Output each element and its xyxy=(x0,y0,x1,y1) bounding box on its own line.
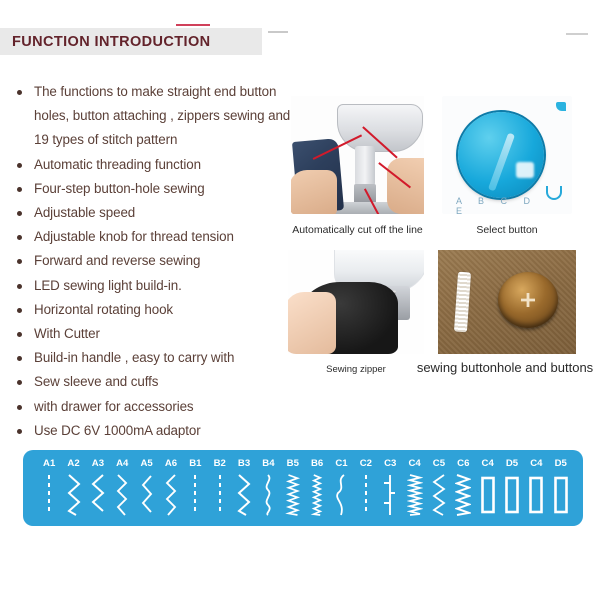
stitch-pattern-cell[interactable]: C4 xyxy=(402,454,426,522)
section-header-bar: FUNCTION INTRODUCTION xyxy=(0,28,262,55)
stitch-pattern-label: C6 xyxy=(457,458,469,469)
sewing-machine-neck xyxy=(355,146,375,186)
stitch-pattern-cell[interactable]: B4 xyxy=(256,454,280,522)
stitch-pattern-cell[interactable]: A6 xyxy=(159,454,183,522)
feature-item: with drawer for accessories xyxy=(10,395,300,419)
caption-buttonhole-and-buttons: sewing buttonhole and buttons xyxy=(410,360,600,375)
stitch-pattern-label: A5 xyxy=(140,458,152,469)
stitch-slanted-zigzag-icon xyxy=(110,471,134,519)
stitch-pattern-cell[interactable]: B2 xyxy=(208,454,232,522)
feature-item: The functions to make straight end butto… xyxy=(10,80,300,153)
stitch-buttonhole-rect-icon xyxy=(500,471,524,519)
feature-item: Four-step button-hole sewing xyxy=(10,177,300,201)
stitch-pattern-label: C3 xyxy=(384,458,396,469)
stitch-pattern-cell[interactable]: C6 xyxy=(451,454,475,522)
stitch-blanket-stitch-icon xyxy=(378,471,402,519)
stitch-pattern-label: D5 xyxy=(555,458,567,469)
top-red-accent xyxy=(176,24,210,26)
sewing-machine-body xyxy=(337,104,423,152)
stitch-buttonhole-rect-icon xyxy=(524,471,548,519)
stitch-pattern-label: B6 xyxy=(311,458,323,469)
stitch-pattern-label: C2 xyxy=(360,458,372,469)
stitch-wide-zigzag-icon xyxy=(61,471,85,519)
stitch-pattern-label: C5 xyxy=(433,458,445,469)
stitch-pattern-label: C4 xyxy=(408,458,420,469)
stitch-pattern-label: A1 xyxy=(43,458,55,469)
selector-knob xyxy=(458,112,544,198)
stitch-pattern-cell[interactable]: D5 xyxy=(549,454,573,522)
stitch-wide-satin-zigzag-icon xyxy=(451,471,475,519)
photo-select-knob: A B C D E xyxy=(442,96,572,214)
stitch-pattern-cell[interactable]: C3 xyxy=(378,454,402,522)
stitch-pattern-cell[interactable]: A4 xyxy=(110,454,134,522)
hand xyxy=(288,292,336,354)
feature-item: Use DC 6V 1000mA adaptor xyxy=(10,419,300,443)
stitch-dashed-straight-icon xyxy=(183,471,207,519)
page-title: FUNCTION INTRODUCTION xyxy=(0,34,211,50)
stitch-pattern-cell[interactable]: A3 xyxy=(86,454,110,522)
stitch-pattern-cell[interactable]: A5 xyxy=(134,454,158,522)
stitch-dense-zigzag-icon xyxy=(402,471,426,519)
stitch-pattern-cell[interactable]: C4 xyxy=(524,454,548,522)
stitch-pattern-cell[interactable]: C4 xyxy=(475,454,499,522)
top-tick-left xyxy=(268,31,288,33)
stitch-pattern-row: A1A2A3A4A5A6B1B2B3B4B5B6C1C2C3C4C5C6C4D5… xyxy=(37,454,573,522)
feature-item: With Cutter xyxy=(10,322,300,346)
feature-item: Horizontal rotating hook xyxy=(10,298,300,322)
stitch-pattern-label: A3 xyxy=(92,458,104,469)
feature-item: Adjustable knob for thread tension xyxy=(10,225,300,249)
stitch-pattern-label: B1 xyxy=(189,458,201,469)
feature-item: Adjustable speed xyxy=(10,201,300,225)
stitch-wide-zigzag-icon xyxy=(232,471,256,519)
stitch-pattern-label: D5 xyxy=(506,458,518,469)
stitch-overlock-stitch-icon xyxy=(427,471,451,519)
feature-item: Forward and reverse sewing xyxy=(10,249,300,273)
stitch-dashed-straight-icon xyxy=(37,471,61,519)
stitch-wavy-zigzag-icon xyxy=(256,471,280,519)
caption-thread-cutter: Automatically cut off the line xyxy=(291,224,424,236)
left-hand xyxy=(291,170,337,214)
stitch-narrow-zigzag-icon xyxy=(305,471,329,519)
stitch-buttonhole-rect-icon xyxy=(549,471,573,519)
stitch-pattern-cell[interactable]: C1 xyxy=(329,454,353,522)
feature-item: LED sewing light build-in. xyxy=(10,274,300,298)
stitch-buttonhole-rect-icon xyxy=(475,471,499,519)
stitch-pattern-cell[interactable]: B5 xyxy=(281,454,305,522)
stitch-dashed-straight-icon xyxy=(354,471,378,519)
stitch-angled-zigzag-icon xyxy=(134,471,158,519)
stitch-pattern-cell[interactable]: B1 xyxy=(183,454,207,522)
feature-item: Build-in handle , easy to carry with xyxy=(10,346,300,370)
knob-letter-scale: A B C D E xyxy=(456,196,548,210)
stitch-pattern-cell[interactable]: B3 xyxy=(232,454,256,522)
stitch-pattern-label: A4 xyxy=(116,458,128,469)
photo-thread-cutter xyxy=(291,96,424,214)
photo-buttonhole xyxy=(438,250,576,354)
stitch-pattern-label: B3 xyxy=(238,458,250,469)
stitch-curved-wave-icon xyxy=(329,471,353,519)
top-tick-right xyxy=(566,33,588,35)
knob-highlight xyxy=(516,162,534,178)
stitch-pattern-label: B2 xyxy=(214,458,226,469)
stitch-pattern-label: B5 xyxy=(287,458,299,469)
stitch-stepped-zigzag-icon xyxy=(159,471,183,519)
stitch-pattern-label: A6 xyxy=(165,458,177,469)
stitch-pattern-label: A2 xyxy=(67,458,79,469)
stitch-dashed-straight-icon xyxy=(208,471,232,519)
caption-sewing-zipper: Sewing zipper xyxy=(288,364,424,375)
sewn-button xyxy=(498,272,558,328)
stitch-pattern-label: B4 xyxy=(262,458,274,469)
stitch-pattern-cell[interactable]: A1 xyxy=(37,454,61,522)
knob-pointer xyxy=(488,133,515,192)
stitch-pattern-cell[interactable]: C2 xyxy=(354,454,378,522)
knob-corner-marker xyxy=(556,102,566,111)
stitch-pattern-cell[interactable]: D5 xyxy=(500,454,524,522)
feature-item: Sew sleeve and cuffs xyxy=(10,370,300,394)
stitch-pattern-cell[interactable]: A2 xyxy=(61,454,85,522)
stitch-tight-zigzag-icon xyxy=(281,471,305,519)
photo-sewing-zipper xyxy=(288,250,424,354)
page-root: FUNCTION INTRODUCTION The functions to m… xyxy=(0,0,600,600)
stitch-pattern-panel: A1A2A3A4A5A6B1B2B3B4B5B6C1C2C3C4C5C6C4D5… xyxy=(23,450,583,526)
feature-list: The functions to make straight end butto… xyxy=(10,80,300,443)
stitch-pattern-cell[interactable]: B6 xyxy=(305,454,329,522)
stitch-pattern-label: C1 xyxy=(335,458,347,469)
feature-item: Automatic threading function xyxy=(10,153,300,177)
caption-select-button: Select button xyxy=(442,224,572,236)
stitch-pattern-label: C4 xyxy=(530,458,542,469)
stitch-pattern-label: C4 xyxy=(482,458,494,469)
stitch-pattern-cell[interactable]: C5 xyxy=(427,454,451,522)
stitch-open-zigzag-left-icon xyxy=(86,471,110,519)
right-hand xyxy=(387,158,424,214)
